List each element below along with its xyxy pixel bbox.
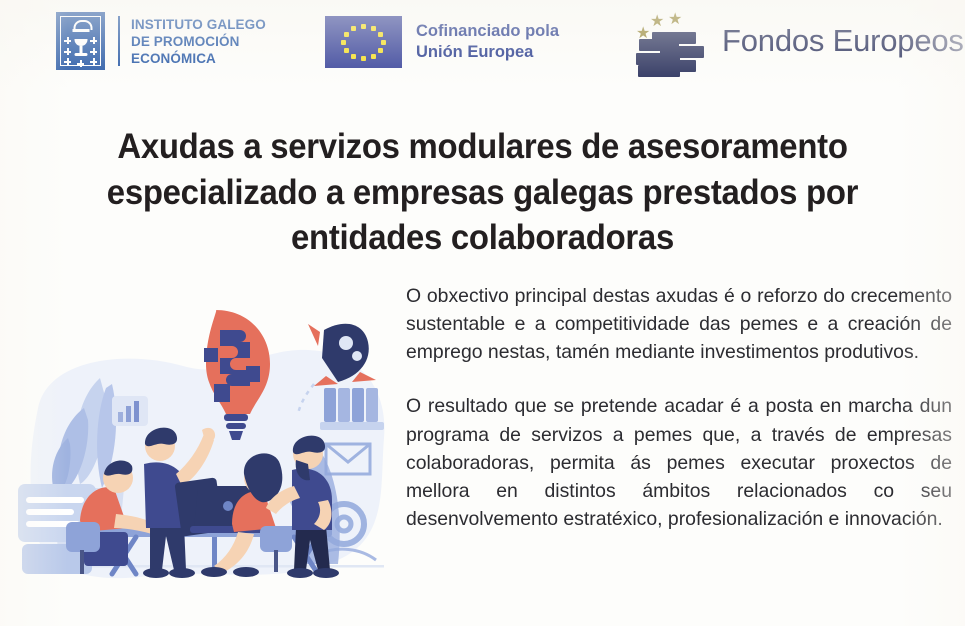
fondos-europeos-mark-icon: ★ ★ ★	[620, 8, 712, 74]
eu-text-line-1: Cofinanciado pola	[416, 21, 559, 42]
team-collaboration-illustration	[8, 288, 400, 618]
logo-bar: INSTITUTO GALEGO DE PROMOCIÓN ECONÓMICA	[0, 0, 965, 86]
fondos-europeos-logo: ★ ★ ★ Fondos Europeos	[620, 8, 964, 74]
igape-logo: INSTITUTO GALEGO DE PROMOCIÓN ECONÓMICA	[56, 12, 266, 70]
wall-chart	[112, 396, 148, 426]
fondos-europeos-text: Fondos Europeos	[722, 23, 964, 59]
body-paragraph-1: O obxectivo principal destas axudas é o …	[406, 282, 952, 366]
eu-flag-icon	[325, 16, 402, 68]
eu-text-line-2: Unión Europea	[416, 42, 559, 63]
xunta-de-galicia-coat-of-arms-icon	[56, 12, 105, 70]
body-paragraph-2: O resultado que se pretende acadar é a p…	[406, 392, 952, 533]
page-title-line-1: Axudas a servizos modulares de asesorame…	[57, 124, 908, 170]
igape-text-line-2: DE PROMOCIÓN	[131, 33, 266, 50]
page-title-line-2: especializado a empresas galegas prestad…	[57, 170, 908, 216]
illustration-svg	[8, 288, 400, 618]
european-union-logo: Cofinanciado pola Unión Europea	[325, 16, 559, 68]
shelf-with-folders	[320, 388, 384, 430]
logo-divider	[118, 16, 120, 66]
poster-page: INSTITUTO GALEGO DE PROMOCIÓN ECONÓMICA	[0, 0, 965, 626]
igape-logo-text: INSTITUTO GALEGO DE PROMOCIÓN ECONÓMICA	[131, 16, 266, 67]
page-title-line-3: entidades colaboradoras	[57, 215, 908, 261]
igape-text-line-3: ECONÓMICA	[131, 50, 266, 67]
igape-text-line-1: INSTITUTO GALEGO	[131, 16, 266, 33]
page-title: Axudas a servizos modulares de asesorame…	[57, 124, 908, 261]
body-text-block: O obxectivo principal destas axudas é o …	[406, 282, 952, 533]
eu-logo-text: Cofinanciado pola Unión Europea	[416, 21, 559, 63]
